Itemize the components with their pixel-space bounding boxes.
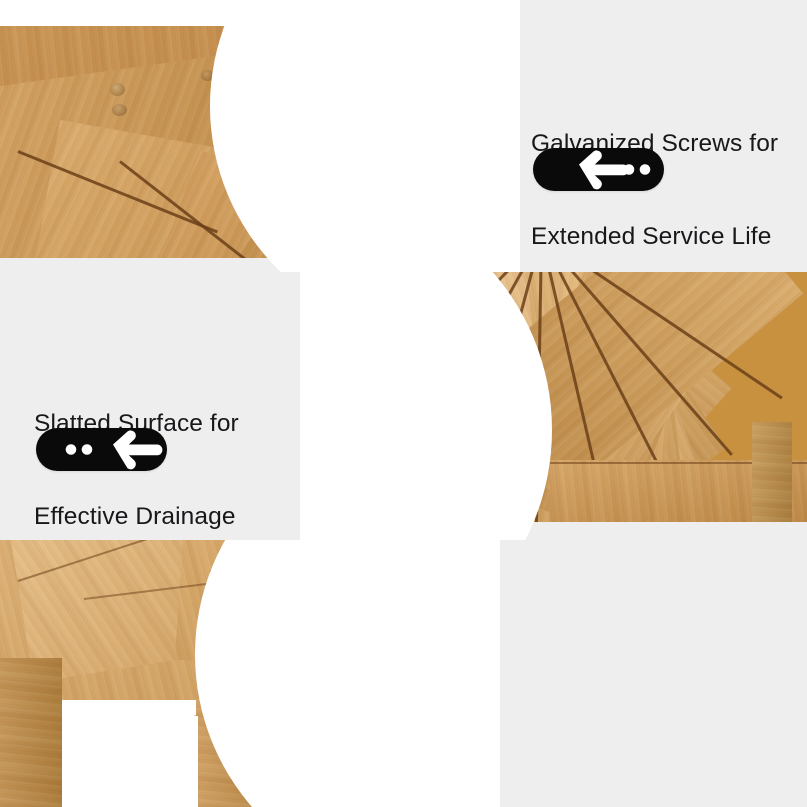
arrow-left-dots-icon bbox=[533, 148, 664, 191]
photo-rounded-corners bbox=[0, 540, 500, 807]
arrow-right-dots-icon bbox=[36, 428, 167, 471]
feature-panel-galvanized-screws: Galvanized Screws for Extended Service L… bbox=[0, 0, 807, 272]
leg-gap-left bbox=[62, 716, 198, 807]
photo-round-left-mask bbox=[300, 272, 552, 540]
screw-plug-2 bbox=[112, 104, 127, 116]
feature-panel-slatted-surface: Slatted Surface for Effective Drainage bbox=[0, 272, 807, 540]
caption-line: Extended Service Life bbox=[531, 221, 778, 252]
table-leg-left bbox=[0, 658, 62, 807]
photo-round-right-mask bbox=[210, 0, 520, 272]
photo-slatted-surface bbox=[300, 272, 807, 540]
caption-line: Effective Drainage bbox=[34, 501, 239, 532]
infographic-page: Galvanized Screws for Extended Service L… bbox=[0, 0, 807, 807]
photo-round-right-mask bbox=[195, 540, 500, 807]
feature-panel-rounded-corners: Rounded Corners Protect You from bumps bbox=[0, 540, 807, 807]
photo-galvanized-screws bbox=[0, 0, 520, 272]
screw-plug-1 bbox=[110, 83, 125, 96]
